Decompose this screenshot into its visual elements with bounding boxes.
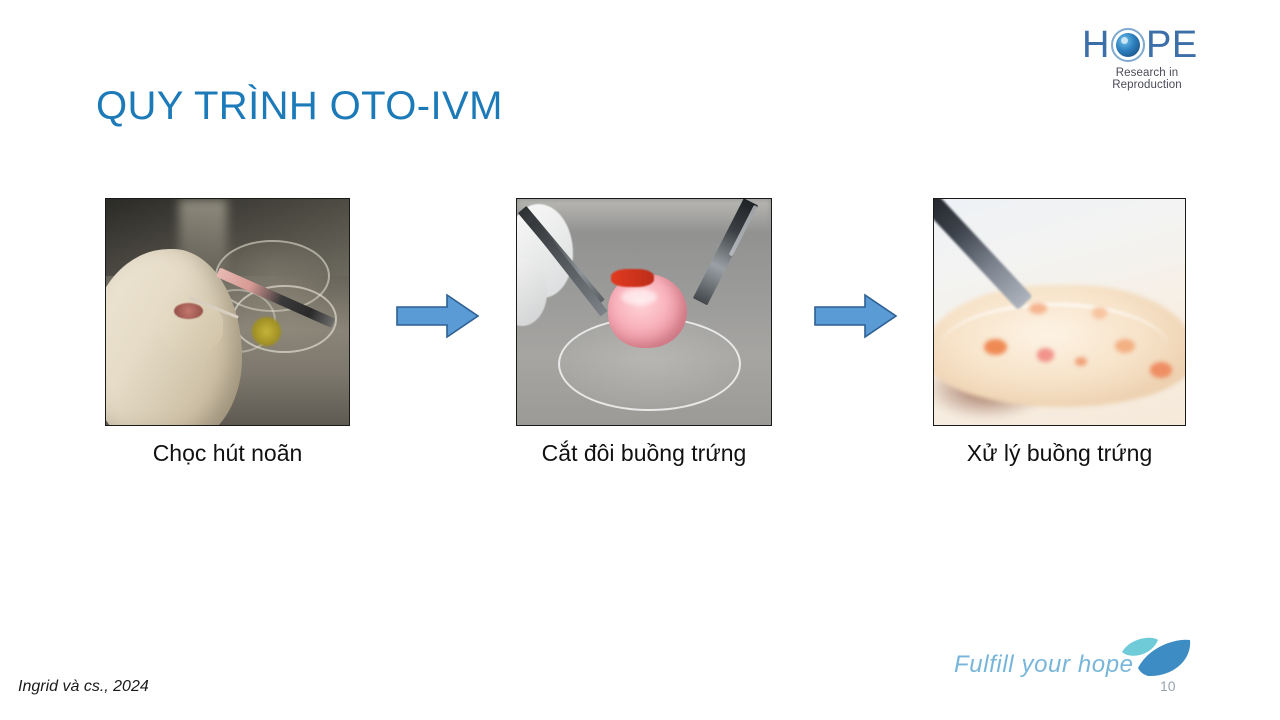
- workflow-step-2-caption: Cắt đôi buồng trứng: [506, 440, 782, 467]
- hope-letter-p: P: [1146, 26, 1172, 64]
- hope-letter-e: E: [1172, 26, 1198, 64]
- photo-oocyte-aspiration: [105, 198, 350, 426]
- photo3-follicle: [1150, 362, 1173, 378]
- workflow-step-3-caption: Xử lý buồng trứng: [923, 440, 1196, 467]
- leaf-mark-icon: [1118, 634, 1194, 682]
- workflow-step-2: Cắt đôi buồng trứng: [516, 198, 772, 426]
- eye-glint: [1121, 37, 1128, 44]
- photo1-yellow-medium: [252, 317, 281, 346]
- workflow-step-1-caption: Chọc hút noãn: [105, 440, 350, 467]
- photo3-follicle: [1115, 339, 1135, 353]
- arrow-right-icon: [395, 292, 480, 340]
- hope-wordmark: H P E: [1082, 26, 1212, 64]
- photo2-ovary-highlight: [621, 289, 657, 305]
- page-title: QUY TRÌNH OTO-IVM: [96, 84, 503, 129]
- photo3-tissue-rim: [939, 303, 1170, 398]
- photo3-follicle: [1092, 307, 1107, 318]
- workflow-step-3: Xử lý buồng trứng: [933, 198, 1186, 426]
- slide-number: 10: [1160, 678, 1176, 694]
- eye-circle-icon: [1111, 28, 1145, 62]
- photo3-follicle: [984, 339, 1007, 355]
- arrow-2-svg: [813, 292, 898, 340]
- hope-logo: H P E Research in Reproduction: [1082, 26, 1212, 84]
- source-citation: Ingrid và cs., 2024: [18, 678, 149, 696]
- photo1-tissue: [174, 303, 203, 319]
- arrow-1-svg: [395, 292, 480, 340]
- hope-tagline: Research in Reproduction: [1082, 67, 1212, 91]
- photo3-follicle: [1037, 348, 1055, 362]
- photo-ovary-processing: [933, 198, 1186, 426]
- hope-letter-h: H: [1082, 26, 1110, 64]
- photo2-blood-edge: [611, 269, 654, 287]
- brand-slogan: Fulfill your hope: [954, 651, 1134, 679]
- presentation-slide: H P E Research in Reproduction QUY TRÌNH…: [0, 0, 1280, 720]
- workflow-step-1: Chọc hút noãn: [105, 198, 350, 426]
- eye-iris: [1116, 33, 1140, 57]
- leaf-mark-svg: [1118, 634, 1194, 682]
- photo-ovary-bisection: [516, 198, 772, 426]
- arrow-right-icon: [813, 292, 898, 340]
